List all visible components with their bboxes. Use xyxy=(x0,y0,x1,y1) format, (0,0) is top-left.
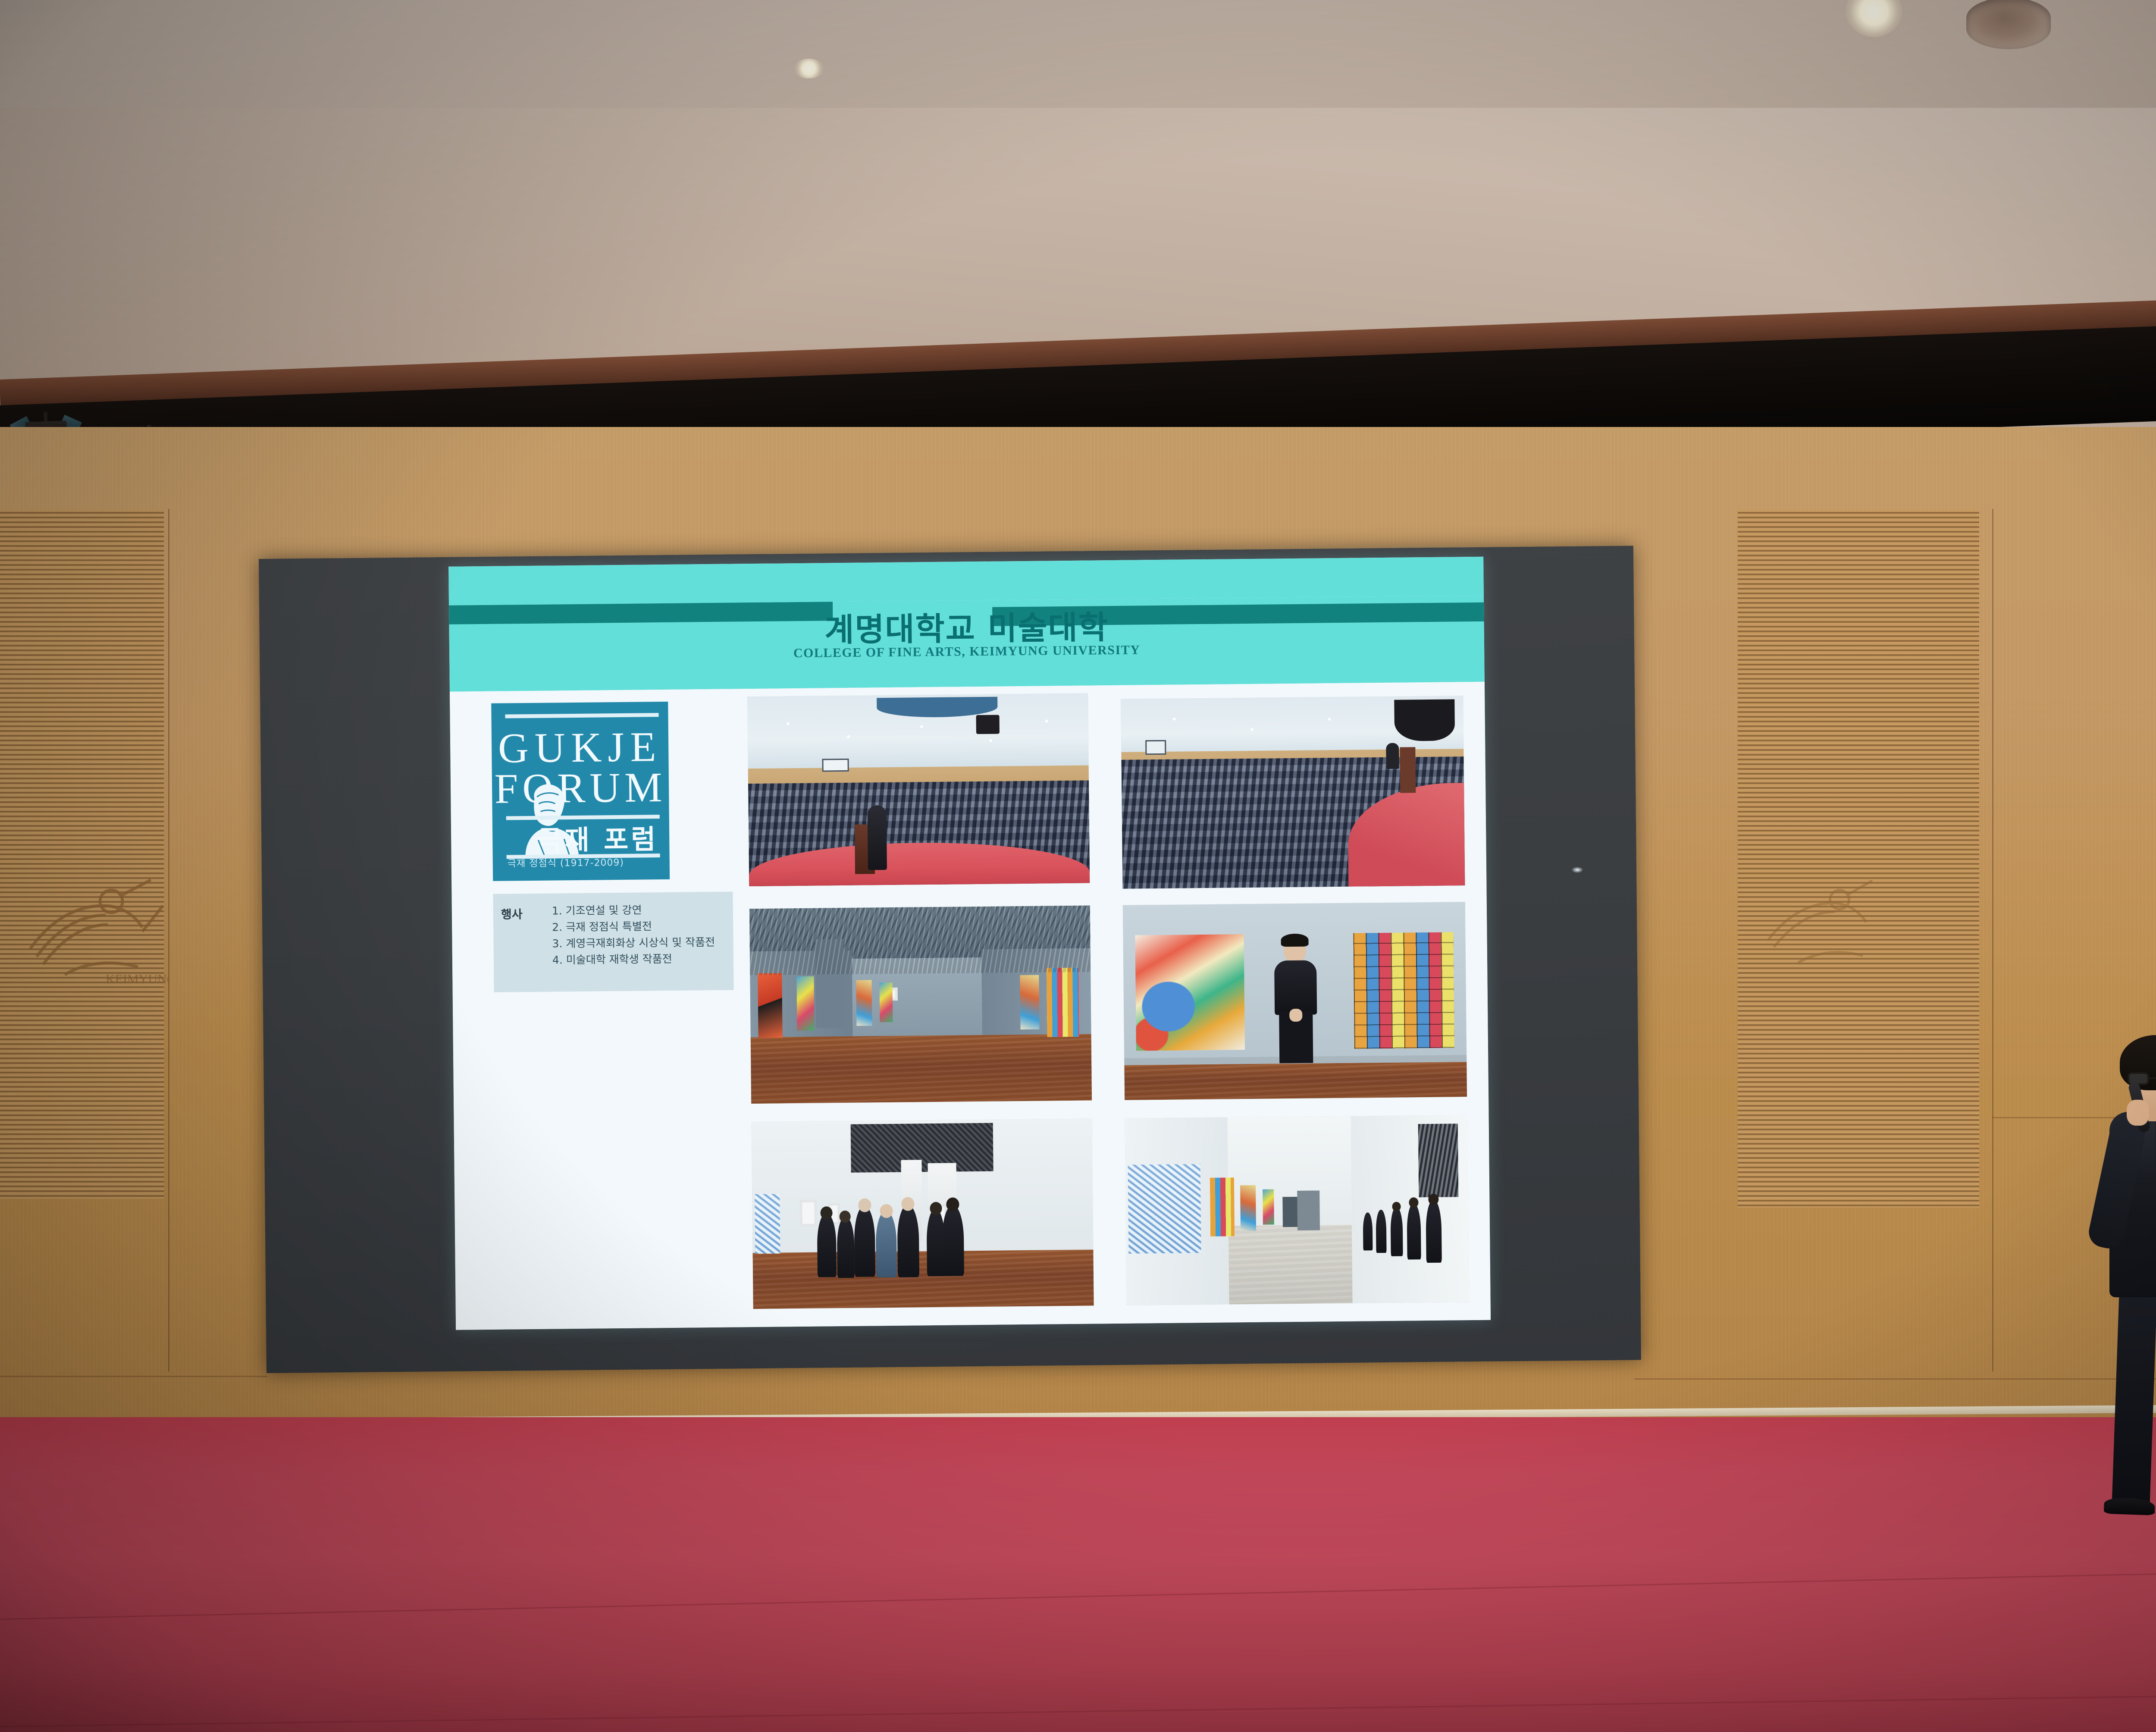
ceiling-diffuser-vent xyxy=(1966,0,2051,49)
events-info-box: 행사 1. 기조연설 및 강연 2. 극재 정점식 특별전 3. 계영극재회화상… xyxy=(493,891,733,992)
artwork-left xyxy=(1135,934,1245,1051)
ceiling-downlight-icon xyxy=(793,59,824,78)
photo-auditorium-speaker xyxy=(747,693,1090,887)
presenter-legs xyxy=(2115,1288,2156,1512)
list-item: 4. 미술대학 재학생 작품전 xyxy=(552,951,726,969)
logo-text-gukje: GUKJE xyxy=(492,726,669,770)
list-item: 3. 계영극재회화상 시상식 및 작품전 xyxy=(552,934,725,952)
list-item: 2. 극재 정점식 특별전 xyxy=(552,918,725,936)
projection-screen: 계명대학교 미술대학 COLLEGE OF FINE ARTS, KEIMYUN… xyxy=(259,546,1641,1373)
events-list: 1. 기조연설 및 강연 2. 극재 정점식 특별전 3. 계영극재회화상 시상… xyxy=(552,901,726,969)
projector-hotspot xyxy=(1572,867,1583,873)
artwork-right xyxy=(1353,932,1454,1048)
photo-artist-with-paintings xyxy=(1123,902,1467,1100)
photo-grid xyxy=(747,690,1469,1309)
photo-gallery-hallway xyxy=(1125,1115,1469,1305)
gukje-forum-logo: GUKJE FORUM xyxy=(491,702,670,881)
slide-header: 계명대학교 미술대학 COLLEGE OF FINE ARTS, KEIMYUN… xyxy=(448,557,1485,692)
logo-text-korean: 극재 포럼 xyxy=(537,817,658,857)
svg-text:KEIMYUNG: KEIMYUNG xyxy=(106,972,168,986)
logo-caption: 극재 정점식 (1917-2009) xyxy=(508,855,624,870)
keimyung-wood-emblem-icon xyxy=(1755,858,1884,979)
keimyung-wood-emblem-icon: KEIMYUNG xyxy=(13,854,168,992)
photo-lecture-hall-audience xyxy=(1121,696,1465,889)
presenter xyxy=(2078,1035,2156,1570)
ceiling xyxy=(0,0,2156,113)
list-item: 1. 기조연설 및 강연 xyxy=(552,901,725,919)
auditorium-room: KEIMYUNG 계명대학교 미술대학 COLLEGE xyxy=(0,0,2156,1732)
wood-seam xyxy=(0,1376,267,1377)
photo-gallery-visitors xyxy=(752,1119,1094,1309)
presenter-hand xyxy=(2127,1100,2149,1126)
logo-rule-top xyxy=(505,713,658,718)
person-silhouette xyxy=(1274,960,1317,1015)
slide-body: GUKJE FORUM xyxy=(450,682,1491,1330)
shoe xyxy=(2104,1497,2155,1515)
presentation-slide: 계명대학교 미술대학 COLLEGE OF FINE ARTS, KEIMYUN… xyxy=(448,557,1491,1330)
wood-seam xyxy=(1992,509,1993,1371)
stage-floor-carpet xyxy=(0,1417,2156,1732)
wood-seam xyxy=(168,509,169,1371)
photo-gallery-corridor xyxy=(749,906,1092,1104)
events-label: 행사 xyxy=(501,903,552,922)
wood-seam xyxy=(1634,1378,2156,1380)
